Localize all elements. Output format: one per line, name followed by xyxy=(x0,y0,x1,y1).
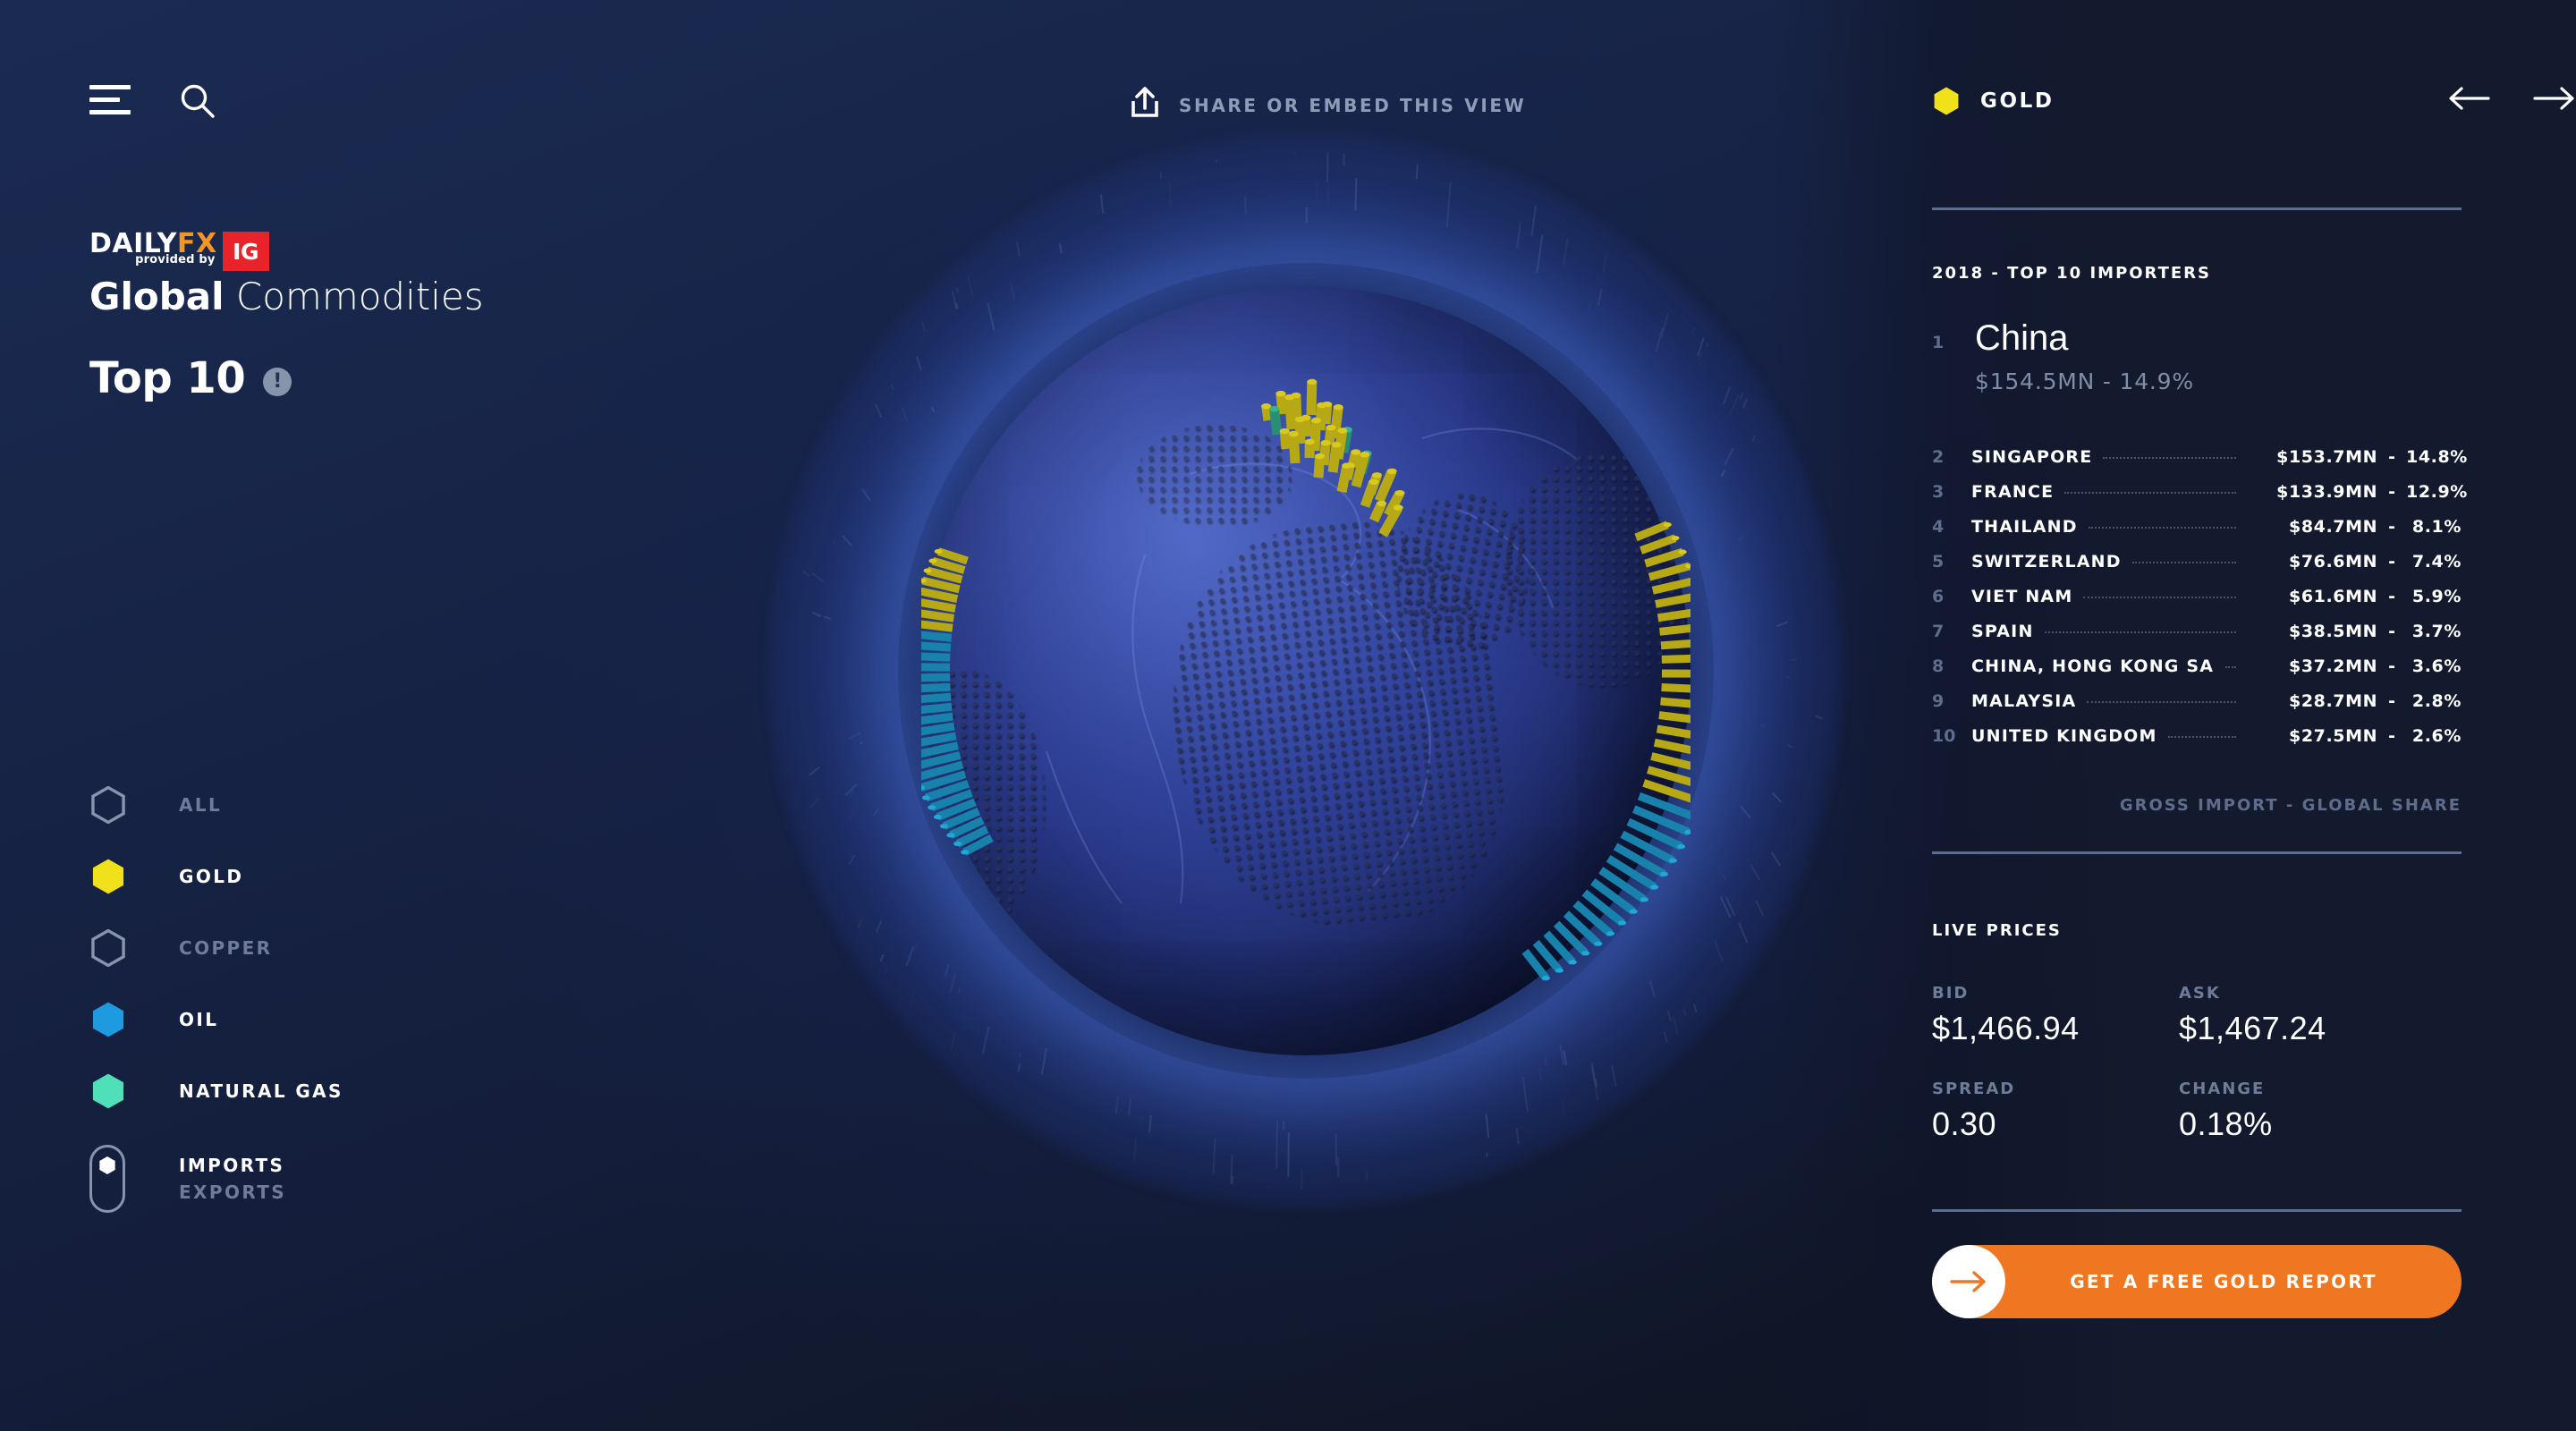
panel-header: GOLD xyxy=(1932,85,2576,116)
row-separator: - xyxy=(2377,517,2406,537)
row-leader xyxy=(2087,701,2236,703)
hamburger-icon[interactable] xyxy=(89,85,131,115)
row-value: $84.7MN xyxy=(2245,517,2377,537)
row-country: UNITED KINGDOM xyxy=(1971,726,2157,746)
top-importer-country: China xyxy=(1975,320,2462,356)
row-leader xyxy=(2168,736,2236,738)
hamburger-line xyxy=(89,97,120,102)
commodity-hexagon-icon xyxy=(89,1072,127,1110)
commodity-legend: ALLGOLDCOPPEROILNATURAL GAS xyxy=(89,769,343,1127)
row-separator: - xyxy=(2377,656,2406,676)
logo-wordmark: DAILYFX provided by xyxy=(89,231,217,258)
top-importer-share: 14.9% xyxy=(2119,368,2193,394)
globe-sphere xyxy=(921,286,1690,1055)
row-separator: - xyxy=(2377,552,2406,572)
table-row[interactable]: 2SINGAPORE$153.7MN-14.8% xyxy=(1932,447,2462,482)
globe-visualization[interactable] xyxy=(921,286,1690,1055)
page-title: Global Commodities xyxy=(89,277,484,317)
price-cell-bid: BID$1,466.94 xyxy=(1932,984,2179,1047)
row-rank: 3 xyxy=(1932,482,1971,502)
arrow-left-icon[interactable] xyxy=(2447,85,2490,116)
divider xyxy=(1932,851,2462,854)
panel-navigation xyxy=(2447,85,2576,116)
row-rank: 10 xyxy=(1932,726,1971,746)
globe-particle-streaks xyxy=(787,152,1825,1190)
page-title-light-text: Commodities xyxy=(236,275,484,318)
timeline-control: 2018 2009 xyxy=(85,1252,1945,1431)
divider xyxy=(1932,207,2462,210)
commodities-app: SHARE OR EMBED THIS VIEW DAILYFX provide… xyxy=(0,0,2576,1431)
page-title-bold: Global xyxy=(89,275,225,318)
top-importer-separator: - xyxy=(2103,368,2112,394)
top-importer-rank: 1 xyxy=(1932,333,1944,352)
legend-item-label: NATURAL GAS xyxy=(179,1080,343,1102)
globe-atmosphere xyxy=(769,134,1843,1207)
top-importer-row[interactable]: 1 China $154.5MN - 14.9% xyxy=(1932,320,2462,394)
landmass-asia xyxy=(1506,455,1690,686)
legend-item-natural-gas[interactable]: NATURAL GAS xyxy=(89,1055,343,1127)
ig-logo: IG xyxy=(223,232,269,271)
row-value: $153.7MN xyxy=(2245,447,2377,467)
toggle-knob[interactable] xyxy=(98,1156,116,1174)
table-row[interactable]: 8CHINA, HONG KONG SA…$37.2MN-3.6% xyxy=(1932,656,2462,691)
page-subtitle: Top 10 xyxy=(89,353,245,403)
share-embed-button[interactable]: SHARE OR EMBED THIS VIEW xyxy=(1127,85,1526,125)
row-country: MALAYSIA xyxy=(1971,691,2076,711)
table-row[interactable]: 5SWITZERLAND$76.6MN-7.4% xyxy=(1932,552,2462,587)
row-rank: 4 xyxy=(1932,517,1971,537)
toggle-option-exports[interactable]: EXPORTS xyxy=(179,1179,286,1206)
row-leader xyxy=(2045,631,2237,633)
importers-section-title: 2018 - TOP 10 IMPORTERS xyxy=(1932,264,2211,283)
price-amount: $1,466.94 xyxy=(1932,1010,2179,1047)
price-row: BID$1,466.94ASK$1,467.24 xyxy=(1932,984,2462,1047)
row-value: $61.6MN xyxy=(2245,587,2377,606)
row-country: SINGAPORE xyxy=(1971,447,2092,467)
free-report-button[interactable]: GET A FREE GOLD REPORT xyxy=(1932,1245,2462,1318)
table-row[interactable]: 6VIET NAM$61.6MN-5.9% xyxy=(1932,587,2462,622)
row-country: SPAIN xyxy=(1971,622,2034,641)
toggle-option-imports[interactable]: IMPORTS xyxy=(179,1152,286,1179)
row-separator: - xyxy=(2377,482,2406,502)
arrow-right-icon[interactable] xyxy=(2533,85,2576,116)
legend-item-oil[interactable]: OIL xyxy=(89,984,343,1055)
row-leader xyxy=(2132,562,2236,563)
importers-table: 2SINGAPORE$153.7MN-14.8%3FRANCE$133.9MN-… xyxy=(1932,447,2462,761)
legend-item-label: OIL xyxy=(179,1009,218,1030)
row-value: $27.5MN xyxy=(2245,726,2377,746)
row-leader xyxy=(2089,527,2236,529)
toggle-track[interactable] xyxy=(89,1145,125,1213)
row-share: 5.9% xyxy=(2406,587,2462,606)
commodity-hexagon-icon xyxy=(89,786,127,824)
page-subtitle-group: Top 10 ! xyxy=(89,353,292,403)
panel-commodity-name: GOLD xyxy=(1980,89,2055,113)
row-rank: 5 xyxy=(1932,552,1971,572)
row-country: FRANCE xyxy=(1971,482,2054,502)
imports-exports-toggle[interactable]: IMPORTS EXPORTS xyxy=(89,1145,286,1213)
page-title-light xyxy=(225,275,236,318)
row-separator: - xyxy=(2377,622,2406,641)
price-amount: $1,467.24 xyxy=(2179,1010,2426,1047)
price-label: SPREAD xyxy=(1932,1080,2179,1098)
row-country: THAILAND xyxy=(1971,517,2078,537)
row-share: 2.8% xyxy=(2406,691,2462,711)
row-leader xyxy=(2103,457,2236,459)
row-rank: 6 xyxy=(1932,587,1971,606)
legend-item-label: GOLD xyxy=(179,866,243,887)
row-share: 7.4% xyxy=(2406,552,2462,572)
row-share: 8.1% xyxy=(2406,517,2462,537)
search-icon[interactable] xyxy=(179,82,216,120)
globe-data-bars xyxy=(921,286,1690,1055)
toggle-labels: IMPORTS EXPORTS xyxy=(179,1152,286,1206)
legend-item-copper[interactable]: COPPER xyxy=(89,912,343,984)
row-leader xyxy=(2225,666,2236,668)
price-row: SPREAD0.30CHANGE0.18% xyxy=(1932,1080,2462,1143)
row-country: CHINA, HONG KONG SA… xyxy=(1971,656,2215,676)
table-row[interactable]: 7SPAIN$38.5MN-3.7% xyxy=(1932,622,2462,656)
row-country: VIET NAM xyxy=(1971,587,2072,606)
globe-shading xyxy=(921,286,1690,1055)
hamburger-line xyxy=(89,110,131,114)
hamburger-line xyxy=(89,85,131,89)
commodity-hexagon-icon xyxy=(89,858,127,895)
detail-panel: GOLD 2018 - TOP 10 IMPORTERS xyxy=(1932,0,2576,1431)
row-share: 2.6% xyxy=(2406,726,2462,746)
row-share: 3.6% xyxy=(2406,656,2462,676)
coastline-overlay xyxy=(921,286,1690,1055)
commodity-hexagon-icon xyxy=(89,1001,127,1038)
commodity-hexagon-icon xyxy=(89,929,127,967)
table-caption: GROSS IMPORT - GLOBAL SHARE xyxy=(1932,796,2462,815)
cta-arrow-badge xyxy=(1932,1245,2005,1318)
table-row[interactable]: 10UNITED KINGDOM$27.5MN-2.6% xyxy=(1932,726,2462,761)
table-row[interactable]: 3FRANCE$133.9MN-12.9% xyxy=(1932,482,2462,517)
row-separator: - xyxy=(2377,587,2406,606)
landmass-europe xyxy=(1137,425,1291,525)
live-prices-grid: BID$1,466.94ASK$1,467.24SPREAD0.30CHANGE… xyxy=(1932,984,2462,1143)
logo-provided-by-text: provided by xyxy=(135,254,216,266)
table-row[interactable]: 9MALAYSIA$28.7MN-2.8% xyxy=(1932,691,2462,726)
row-separator: - xyxy=(2377,447,2406,467)
price-label: ASK xyxy=(2179,984,2426,1003)
price-cell-spread: SPREAD0.30 xyxy=(1932,1080,2179,1143)
price-amount: 0.30 xyxy=(1932,1105,2179,1143)
legend-item-label: COPPER xyxy=(179,937,272,959)
legend-item-all[interactable]: ALL xyxy=(89,769,343,841)
top-importer-value: $154.5MN xyxy=(1975,368,2095,394)
info-icon[interactable]: ! xyxy=(263,368,292,396)
row-leader xyxy=(2064,492,2236,494)
gold-hexagon-icon xyxy=(1932,87,1961,115)
landmass-south-america xyxy=(921,671,1045,932)
row-value: $76.6MN xyxy=(2245,552,2377,572)
top-importer-stats: $154.5MN - 14.9% xyxy=(1975,368,2462,394)
left-sidebar: DAILYFX provided by IG Global Commoditie… xyxy=(89,0,769,1431)
landmass-africa xyxy=(1155,509,1518,940)
row-value: $28.7MN xyxy=(2245,691,2377,711)
row-rank: 7 xyxy=(1932,622,1971,641)
landmass-arabia xyxy=(1385,484,1541,658)
price-label: BID xyxy=(1932,984,2179,1003)
row-separator: - xyxy=(2377,726,2406,746)
row-share: 12.9% xyxy=(2406,482,2462,502)
row-country: SWITZERLAND xyxy=(1971,552,2122,572)
price-label: CHANGE xyxy=(2179,1080,2426,1098)
cta-label: GET A FREE GOLD REPORT xyxy=(2005,1271,2462,1292)
row-share: 14.8% xyxy=(2406,447,2462,467)
price-cell-change: CHANGE0.18% xyxy=(2179,1080,2426,1143)
legend-item-label: ALL xyxy=(179,794,222,816)
row-share: 3.7% xyxy=(2406,622,2462,641)
row-value: $37.2MN xyxy=(2245,656,2377,676)
row-rank: 8 xyxy=(1932,656,1971,676)
arrow-right-icon xyxy=(1949,1268,1988,1295)
row-value: $38.5MN xyxy=(2245,622,2377,641)
row-rank: 2 xyxy=(1932,447,1971,467)
dailyfx-logo[interactable]: DAILYFX provided by IG xyxy=(89,231,269,271)
share-upload-icon xyxy=(1127,85,1163,125)
row-value: $133.9MN xyxy=(2245,482,2377,502)
legend-item-gold[interactable]: GOLD xyxy=(89,841,343,912)
row-separator: - xyxy=(2377,691,2406,711)
price-amount: 0.18% xyxy=(2179,1105,2426,1143)
share-embed-label: SHARE OR EMBED THIS VIEW xyxy=(1179,95,1526,116)
live-prices-title: LIVE PRICES xyxy=(1932,921,2062,940)
table-row[interactable]: 4THAILAND$84.7MN-8.1% xyxy=(1932,517,2462,552)
row-rank: 9 xyxy=(1932,691,1971,711)
row-leader xyxy=(2083,597,2236,598)
divider xyxy=(1932,1209,2462,1212)
globe-glow xyxy=(898,263,1714,1079)
price-cell-ask: ASK$1,467.24 xyxy=(2179,984,2426,1047)
